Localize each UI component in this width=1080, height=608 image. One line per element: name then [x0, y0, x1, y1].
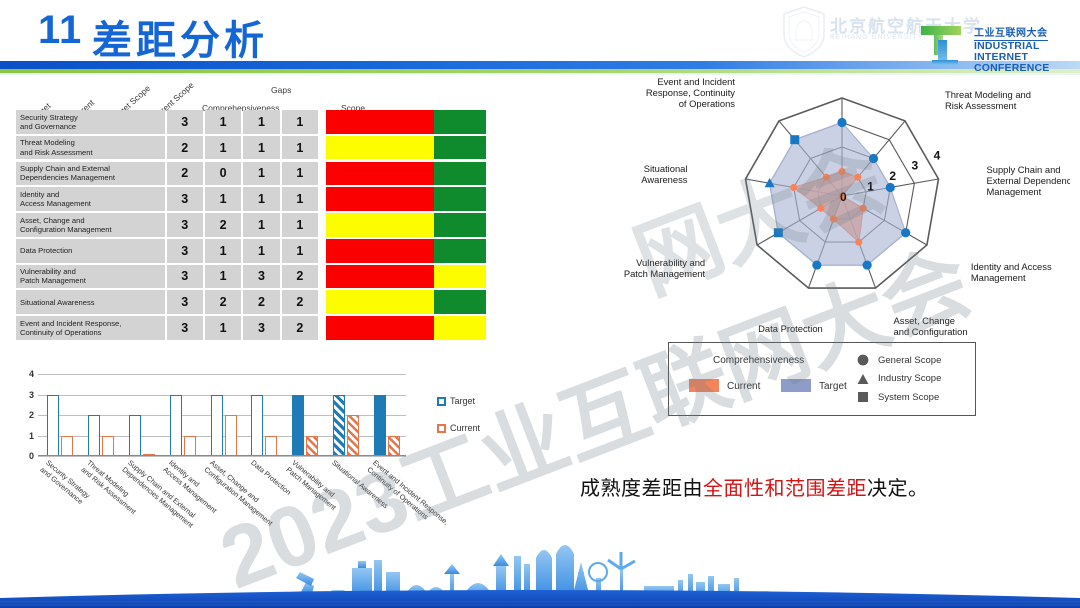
bar-plot-area: 01234 [38, 374, 406, 456]
gap-comprehensiveness-bar [326, 290, 434, 314]
footer-skyline [0, 538, 1080, 608]
gap-bars [326, 290, 486, 314]
bar-target [211, 395, 223, 457]
table-row: Vulnerability andPatch Management3132 [16, 265, 486, 289]
table-row: Supply Chain and ExternalDependencies Ma… [16, 162, 486, 186]
cell-current-scope: 2 [282, 290, 318, 314]
cell-current: 1 [205, 316, 241, 340]
gap-scope-bar [434, 290, 486, 314]
row-label: Supply Chain and ExternalDependencies Ma… [16, 162, 165, 186]
gap-bars [326, 110, 486, 134]
radar-axis-label-line-1: Situational [644, 163, 688, 174]
row-label-line-1: Event and Incident Response, [20, 319, 165, 328]
row-label: Event and Incident Response,Continuity o… [16, 316, 165, 340]
x-axis-label: Data Protection [249, 458, 293, 497]
bar-group [170, 374, 196, 456]
cell-target-scope: 1 [243, 162, 279, 186]
radar-marker-target-circle [901, 228, 910, 237]
radar-axis-label-line-2: Awareness [641, 174, 688, 185]
gap-bars [326, 162, 486, 186]
legend-item-current: Current [437, 423, 480, 433]
cell-current-scope: 1 [282, 136, 318, 160]
legend-label-target: Target [819, 381, 847, 392]
triangle-marker-icon [857, 373, 869, 385]
table-row: Identity andAccess Management3111 [16, 187, 486, 211]
cell-target: 3 [167, 290, 203, 314]
gridline [38, 456, 406, 457]
cell-current-scope: 1 [282, 162, 318, 186]
row-label-line-2: Access Management [20, 199, 165, 208]
cell-current-scope: 1 [282, 110, 318, 134]
cell-target-scope: 3 [243, 316, 279, 340]
cell-target-scope: 3 [243, 265, 279, 289]
maturity-radar-chart: 01234Security Strategyand GovernanceThre… [620, 78, 1070, 338]
radar-axis-label-line-1: Vulnerability and [636, 257, 705, 268]
cell-current-scope: 1 [282, 187, 318, 211]
row-label-line-2: Dependencies Management [20, 173, 165, 182]
y-axis-tick: 1 [29, 431, 34, 441]
y-axis-tick: 3 [29, 390, 34, 400]
radar-axis-label-line-2: and Governance [807, 78, 876, 80]
radar-marker-target-square [774, 228, 783, 237]
slide-caption: 成熟度差距由全面性和范围差距决定。 [580, 472, 929, 501]
cell-target-scope: 1 [243, 136, 279, 160]
row-label-line-1: Threat Modeling [20, 138, 165, 147]
scope-legend-item: Industry Scope [857, 370, 941, 389]
bar-target [333, 395, 345, 457]
radar-axis-label-line-1: Threat Modeling and [945, 89, 1031, 100]
cell-current-scope: 2 [282, 265, 318, 289]
radar-marker-target-circle [886, 183, 895, 192]
legend-label: Target [450, 396, 475, 406]
scope-legend-label: General Scope [878, 355, 941, 366]
bar-target [88, 415, 100, 456]
bar-current [306, 436, 318, 457]
radar-marker-current-circle [817, 205, 824, 212]
table-row: Situational Awareness3222 [16, 290, 486, 314]
row-label-line-1: Asset, Change and [20, 216, 165, 225]
radar-axis-label: Vulnerability andPatch Management [624, 257, 706, 279]
gap-comprehensiveness-bar [326, 136, 434, 160]
skyline-illustration [0, 538, 1080, 608]
radar-marker-current-circle [790, 184, 797, 191]
cell-current: 1 [205, 136, 241, 160]
cell-target: 3 [167, 316, 203, 340]
radar-axis-label: Threat Modeling andRisk Assessment [945, 89, 1031, 111]
scope-legend-item: General Scope [857, 351, 941, 370]
cell-target: 3 [167, 265, 203, 289]
table-header-row: Target Current Target Scope Current Scop… [16, 84, 486, 112]
radar-axis-label-line-3: Management [987, 186, 1042, 197]
bar-current [184, 436, 196, 457]
conference-text: 工业互联网大会 INDUSTRIAL INTERNET CONFERENCE [974, 24, 1050, 73]
cell-current: 0 [205, 162, 241, 186]
radar-axis-label-line-2: External Dependencies [987, 175, 1070, 186]
legend-swatch-target [781, 379, 811, 392]
radar-axis-label: Data Protection [758, 323, 823, 334]
radar-axis-label-line-2: Response, Continuity [646, 87, 735, 98]
radar-tick-0: 0 [840, 190, 847, 204]
bar-group [88, 374, 114, 456]
radar-axis-label-line-2: and Configuration [894, 326, 968, 337]
row-label-line-1: Security Strategy [20, 113, 165, 122]
gap-comprehensiveness-bar [326, 213, 434, 237]
row-label-line-2: Continuity of Operations [20, 328, 165, 337]
radar-axis-label: Supply Chain andExternal DependenciesMan… [987, 164, 1070, 197]
bar-target [47, 395, 59, 457]
conference-mark-icon [920, 24, 970, 66]
bar-current [347, 415, 359, 456]
caption-highlight: 全面性和范围差距 [703, 478, 867, 500]
x-axis-label-line-1: Event and Incident Response, [372, 458, 451, 527]
gap-scope-bar [434, 187, 486, 211]
gap-comprehensiveness-bar [326, 265, 434, 289]
cell-current-scope: 1 [282, 213, 318, 237]
bar-target [292, 395, 304, 457]
bar-target [374, 395, 386, 457]
row-label-line-1: Situational Awareness [20, 298, 165, 307]
gap-scope-bar [434, 213, 486, 237]
cell-target-scope: 1 [243, 239, 279, 263]
conference-name-en-3: CONFERENCE [974, 63, 1050, 74]
cell-target-scope: 2 [243, 290, 279, 314]
caption-prefix: 成熟度差距由 [580, 478, 703, 500]
radar-marker-current-circle [854, 174, 861, 181]
table-row: Threat Modelingand Risk Assessment2111 [16, 136, 486, 160]
radar-marker-target-square [790, 135, 799, 144]
radar-marker-target-circle [837, 118, 846, 127]
row-label: Vulnerability andPatch Management [16, 265, 165, 289]
row-label: Security Strategyand Governance [16, 110, 165, 134]
bar-group [47, 374, 73, 456]
gap-scope-bar [434, 110, 486, 134]
row-label-line-2: Patch Management [20, 276, 165, 285]
legend-label: Current [450, 423, 480, 433]
cell-current: 2 [205, 213, 241, 237]
legend-swatch [437, 397, 446, 406]
bar-target [129, 415, 141, 456]
gap-bars [326, 316, 486, 340]
cell-target: 3 [167, 187, 203, 211]
radar-axis-label: Event and IncidentResponse, Continuityof… [646, 78, 736, 109]
caption-suffix: 决定。 [867, 478, 929, 500]
radar-tick-4: 4 [934, 148, 941, 162]
cell-target: 3 [167, 110, 203, 134]
row-label-line-2: Configuration Management [20, 225, 165, 234]
table-row: Asset, Change andConfiguration Managemen… [16, 213, 486, 237]
bar-chart-legend: TargetCurrent [437, 396, 480, 450]
radar-tick-2: 2 [889, 169, 896, 183]
row-label-line-2: and Risk Assessment [20, 148, 165, 157]
cell-current: 1 [205, 110, 241, 134]
row-label-line-1: Identity and [20, 190, 165, 199]
bar-current [388, 436, 400, 457]
scope-legend-group: General ScopeIndustry ScopeSystem Scope [857, 351, 941, 407]
header-rule-light [0, 73, 1080, 75]
radar-axis-label: Identity and AccessManagement [971, 261, 1052, 283]
bar-current [61, 436, 73, 457]
gap-comprehensiveness-bar [326, 316, 434, 340]
table-row: Data Protection3111 [16, 239, 486, 263]
y-axis-tick: 0 [29, 451, 34, 461]
radar-axis-label: Security Strategyand Governance [806, 78, 878, 80]
row-label: Asset, Change andConfiguration Managemen… [16, 213, 165, 237]
bar-current [265, 436, 277, 457]
bar-group [292, 374, 318, 456]
bar-group [211, 374, 237, 456]
radar-marker-current-circle [860, 205, 867, 212]
radar-marker-target-circle [812, 260, 821, 269]
bar-group [129, 374, 155, 456]
legend-label-current: Current [727, 381, 760, 392]
gap-comprehensiveness-bar [326, 110, 434, 134]
cell-current-scope: 2 [282, 316, 318, 340]
radar-axis-label: SituationalAwareness [641, 163, 688, 185]
university-name-en: BEIHANG UNIVERSITY [830, 34, 923, 41]
radar-axis-label: Asset, Changeand ConfigurationManagement [894, 315, 968, 338]
cell-target: 3 [167, 239, 203, 263]
radar-tick-1: 1 [867, 180, 874, 194]
legend-item-target: Target [437, 396, 480, 406]
gap-scope-bar [434, 316, 486, 340]
row-label-line-1: Data Protection [20, 246, 165, 255]
scope-legend-label: System Scope [878, 392, 939, 403]
cell-current-scope: 1 [282, 239, 318, 263]
y-axis-tick: 2 [29, 410, 34, 420]
gap-comprehensiveness-bar [326, 239, 434, 263]
gap-scope-bar [434, 265, 486, 289]
radar-axis-label-line-1: Event and Incident [657, 78, 735, 87]
gap-scope-bar [434, 136, 486, 160]
gap-comprehensiveness-bar [326, 162, 434, 186]
cell-current: 1 [205, 239, 241, 263]
bar-current [225, 415, 237, 456]
bar-group [374, 374, 400, 456]
radar-marker-target-circle [863, 260, 872, 269]
cell-target-scope: 1 [243, 187, 279, 211]
slide-canvas: 11 差距分析 北京航空航天大学 BEIHANG UNIVERSITY [0, 0, 1080, 608]
bar-current [102, 436, 114, 457]
x-axis-line [38, 455, 406, 456]
radar-axis-label-line-2: Management [971, 272, 1026, 283]
legend-swatch-current [689, 379, 719, 392]
radar-marker-target-circle [869, 154, 878, 163]
radar-marker-current-circle [823, 174, 830, 181]
table-row: Security Strategyand Governance3111 [16, 110, 486, 134]
gap-scope-bar [434, 162, 486, 186]
radar-svg: 01234Security Strategyand GovernanceThre… [620, 78, 1070, 338]
cell-current: 1 [205, 265, 241, 289]
cell-target: 2 [167, 136, 203, 160]
row-label-line-2: and Governance [20, 122, 165, 131]
square-marker-icon [857, 391, 869, 403]
bar-target [170, 395, 182, 457]
x-axis-label-line-1: Asset, Change and [208, 458, 280, 521]
radar-axis-label-line-1: Supply Chain and [987, 164, 1061, 175]
gap-bars [326, 213, 486, 237]
radar-axis-label-line-1: Data Protection [758, 323, 823, 334]
university-shield-icon [782, 6, 826, 58]
row-label: Threat Modelingand Risk Assessment [16, 136, 165, 160]
cell-target-scope: 1 [243, 110, 279, 134]
radar-axis-label-line-3: Management [894, 337, 949, 338]
slide-number: 11 [38, 8, 82, 53]
cell-target: 2 [167, 162, 203, 186]
scope-legend-label: Industry Scope [878, 373, 941, 384]
radar-marker-current-circle [830, 215, 837, 222]
row-label-line-1: Vulnerability and [20, 267, 165, 276]
x-axis-label-line-1: Data Protection [249, 458, 293, 497]
radar-marker-current-circle [855, 238, 862, 245]
th-gaps: Gaps [271, 85, 291, 95]
radar-axis-label-line-1: Asset, Change [894, 315, 956, 326]
radar-marker-current-circle [838, 168, 845, 175]
cell-target-scope: 1 [243, 213, 279, 237]
gap-bars [326, 187, 486, 211]
gap-analysis-table: Security Strategyand Governance3111Threa… [16, 110, 486, 342]
scope-legend-item: System Scope [857, 388, 941, 407]
row-label: Identity andAccess Management [16, 187, 165, 211]
bar-target [251, 395, 263, 457]
cell-target: 3 [167, 213, 203, 237]
radar-tick-3: 3 [912, 159, 919, 173]
cell-current: 1 [205, 187, 241, 211]
cell-current: 2 [205, 290, 241, 314]
maturity-bar-chart: 01234Security Strategyand GovernanceThre… [16, 368, 486, 478]
gap-bars [326, 265, 486, 289]
bar-group [333, 374, 359, 456]
gap-bars [326, 239, 486, 263]
radar-axis-label-line-2: Patch Management [624, 268, 706, 279]
gap-bars [326, 136, 486, 160]
row-label: Situational Awareness [16, 290, 165, 314]
row-label-line-1: Supply Chain and External [20, 164, 165, 173]
conference-logo: 北京航空航天大学 BEIHANG UNIVERSITY 工业互联网大会 INDU… [772, 2, 1072, 66]
circle-marker-icon [857, 354, 869, 366]
conference-name-en-2: INTERNET [974, 52, 1050, 63]
gap-scope-bar [434, 239, 486, 263]
radar-axis-label-line-2: Risk Assessment [945, 100, 1017, 111]
legend-swatch [437, 424, 446, 433]
radar-axis-label-line-1: Identity and Access [971, 261, 1052, 272]
row-label: Data Protection [16, 239, 165, 263]
y-axis-tick: 4 [29, 369, 34, 379]
page-title: 差距分析 [92, 8, 268, 66]
radar-legend-title: Comprehensiveness [713, 355, 804, 366]
radar-legend: Comprehensiveness Current Target General… [668, 342, 976, 416]
table-row: Event and Incident Response,Continuity o… [16, 316, 486, 340]
gap-comprehensiveness-bar [326, 187, 434, 211]
bar-group [251, 374, 277, 456]
radar-axis-label-line-3: of Operations [679, 98, 736, 109]
